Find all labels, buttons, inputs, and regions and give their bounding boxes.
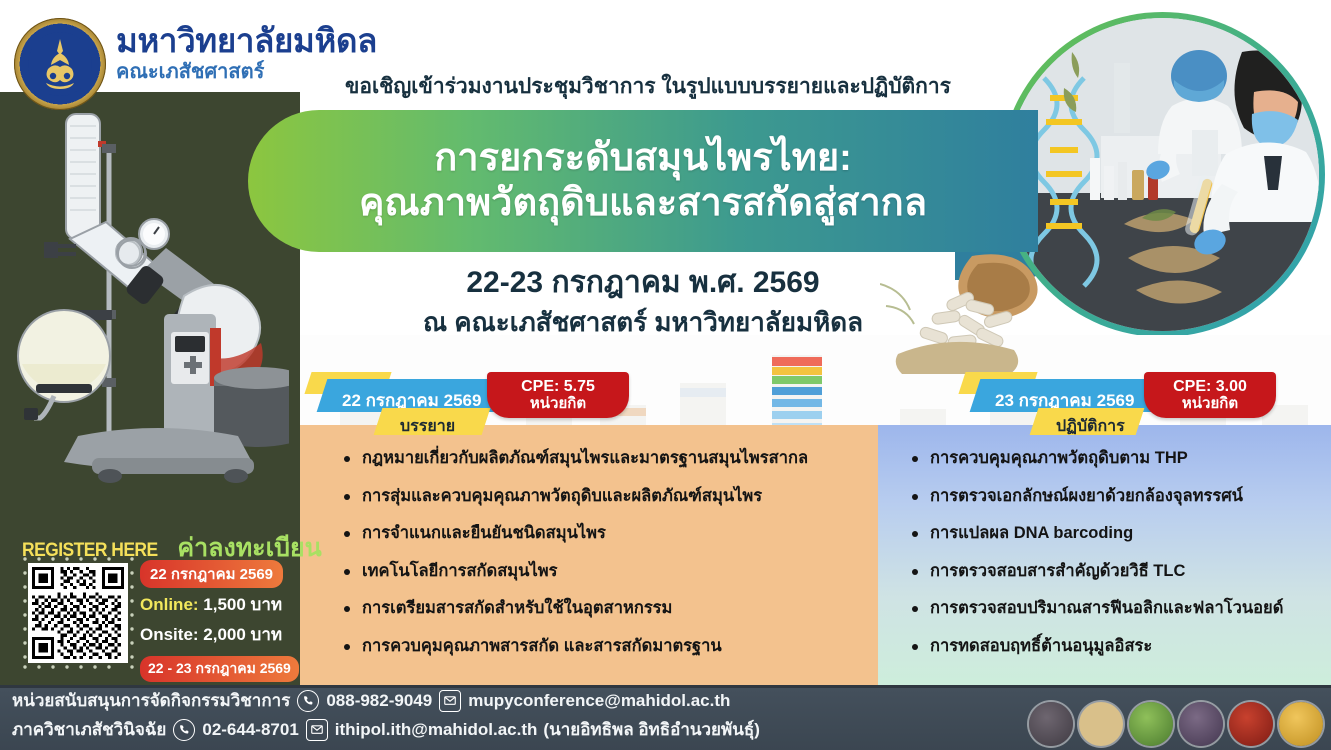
list-item: การตรวจเอกลักษณ์ผงยาด้วยกล้องจุลทรรศน์	[908, 488, 1323, 505]
price-badge-both-days: 22 - 23 กรกฎาคม 2569	[140, 656, 299, 682]
list-item: การควบคุมคุณภาพสารสกัด และสารสกัดมาตรฐาน	[340, 638, 870, 655]
day2-cpe-unit: หน่วยกิต	[1182, 396, 1238, 412]
conference-title-line2: คุณภาพวัตถุดิบและสารสกัดสู่สากล	[359, 182, 927, 225]
university-name: มหาวิทยาลัยมหิดล	[116, 24, 377, 59]
email-icon	[439, 690, 461, 712]
contact-row-1: หน่วยสนับสนุนการจัดกิจกรรมวิชาการ 088-98…	[12, 687, 730, 714]
list-item: การสุ่มและควบคุมคุณภาพวัตถุดิบและผลิตภัณ…	[340, 488, 870, 505]
spice-dishes-row	[1029, 702, 1323, 746]
list-item: การควบคุมคุณภาพวัตถุดิบตาม THP	[908, 450, 1323, 467]
day1-format-label: บรรยาย	[400, 414, 455, 439]
day2-cpe-badge: CPE: 3.00 หน่วยกิต	[1144, 372, 1276, 418]
price-group: 22 กรกฎาคม 2569 Online: 1,500 บาท Onsite…	[140, 560, 290, 648]
spice-dish	[1179, 702, 1223, 746]
price-value: 2,000 บาท	[203, 625, 282, 644]
list-item: การจำแนกและยืนยันชนิดสมุนไพร	[340, 525, 870, 542]
day2-cpe-value: CPE: 3.00	[1173, 379, 1247, 396]
price-line: Onsite: 2,000 บาท	[140, 621, 290, 648]
contact-person: (นายอิทธิพล อิทธิอำนวยพันธุ์)	[543, 716, 759, 743]
day1-cpe-value: CPE: 5.75	[521, 379, 595, 396]
contact-email[interactable]: mupyconference@mahidol.ac.th	[468, 691, 730, 711]
spice-dish	[1279, 702, 1323, 746]
conference-title-banner: การยกระดับสมุนไพรไทย: คุณภาพวัตถุดิบและส…	[248, 110, 1038, 252]
university-name-block: มหาวิทยาลัยมหิดล คณะเภสัชศาสตร์	[116, 24, 377, 83]
list-item: กฎหมายเกี่ยวกับผลิตภัณฑ์สมุนไพรและมาตรฐา…	[340, 450, 870, 467]
contact-label: ภาควิชาเภสัชวินิจฉัย	[12, 716, 166, 743]
day1-cpe-badge: CPE: 5.75 หน่วยกิต	[487, 372, 629, 418]
phone-icon	[297, 690, 319, 712]
email-icon	[306, 719, 328, 741]
contact-label: หน่วยสนับสนุนการจัดกิจกรรมวิชาการ	[12, 687, 290, 714]
contact-phone[interactable]: 02-644-8701	[202, 720, 298, 740]
day2-format-label: ปฏิบัติการ	[1056, 414, 1125, 439]
spice-dish	[1079, 702, 1123, 746]
spice-dish	[1129, 702, 1173, 746]
price-badge-day1: 22 กรกฎาคม 2569	[140, 560, 283, 588]
list-item: การทดสอบฤทธิ์ต้านอนุมูลอิสระ	[908, 638, 1323, 655]
price-key: Onsite:	[140, 625, 199, 644]
conference-title-line1: การยกระดับสมุนไพรไทย:	[434, 137, 852, 180]
mahidol-seal-logo	[14, 18, 106, 110]
list-item: การตรวจสอบสารสำคัญด้วยวิธี TLC	[908, 563, 1323, 580]
faculty-name: คณะเภสัชศาสตร์	[116, 61, 377, 83]
contact-email[interactable]: ithipol.ith@mahidol.ac.th	[335, 720, 538, 740]
conference-poster: มหาวิทยาลัยมหิดล คณะเภสัชศาสตร์ ขอเชิญเข…	[0, 0, 1331, 750]
spice-dish	[1229, 702, 1273, 746]
contact-phone[interactable]: 088-982-9049	[326, 691, 432, 711]
list-item: เทคโนโลยีการสกัดสมุนไพร	[340, 563, 870, 580]
contact-row-2: ภาควิชาเภสัชวินิจฉัย 02-644-8701 ithipol…	[12, 716, 760, 743]
registration-qr-code[interactable]	[28, 563, 128, 663]
phone-icon	[173, 719, 195, 741]
price-value: 1,500 บาท	[203, 595, 282, 614]
price-key: Online:	[140, 595, 199, 614]
spice-dish	[1029, 702, 1073, 746]
herbal-capsules-bowl	[880, 250, 1060, 380]
list-item: การเตรียมสารสกัดสำหรับใช้ในอุตสาหกรรม	[340, 600, 870, 617]
invitation-line: ขอเชิญเข้าร่วมงานประชุมวิชาการ ในรูปแบบบ…	[345, 70, 951, 103]
day1-topic-list: กฎหมายเกี่ยวกับผลิตภัณฑ์สมุนไพรและมาตรฐา…	[340, 450, 870, 675]
list-item: การตรวจสอบปริมาณสารฟีนอลิกและฟลาโวนอยด์	[908, 600, 1323, 617]
day1-cpe-unit: หน่วยกิต	[530, 396, 586, 412]
list-item: การแปลผล DNA barcoding	[908, 525, 1323, 542]
day2-topic-list: การควบคุมคุณภาพวัตถุดิบตาม THP การตรวจเอ…	[908, 450, 1323, 675]
price-line: Online: 1,500 บาท	[140, 591, 290, 618]
